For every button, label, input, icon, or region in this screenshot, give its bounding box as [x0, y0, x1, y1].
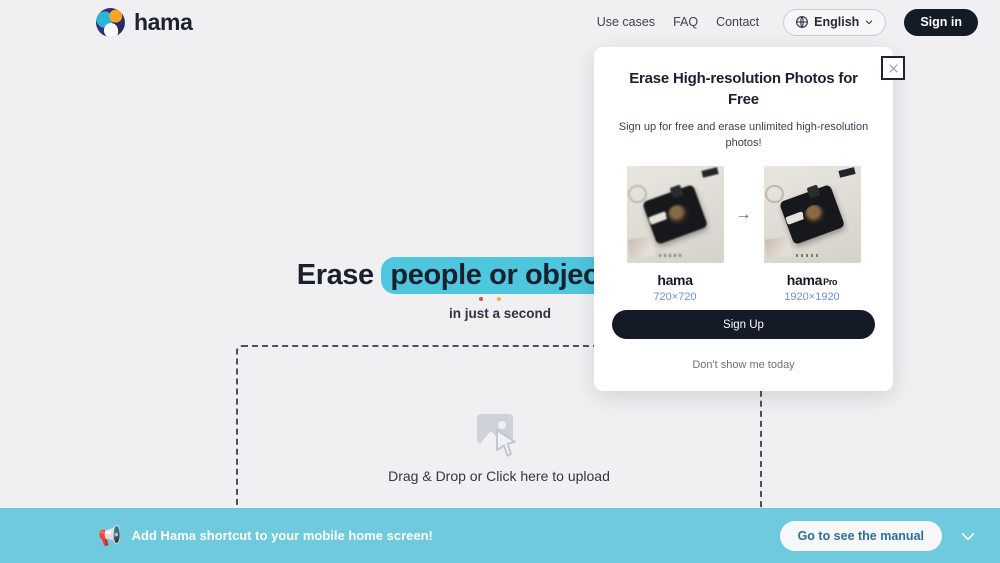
modal-title: Erase High-resolution Photos for Free	[612, 69, 875, 110]
vintage-camera-photo-hd	[764, 166, 861, 263]
hero-title-before: Erase	[297, 259, 382, 291]
accent-dot-red	[479, 297, 483, 301]
globe-icon	[795, 15, 809, 29]
arrow-right-icon: →	[734, 166, 754, 263]
plan-label-standard: hama	[657, 272, 692, 288]
cursor-arrow-icon	[495, 428, 521, 458]
nav-item-use-cases[interactable]: Use cases	[597, 15, 655, 29]
signup-modal: Erase High-resolution Photos for Free Si…	[594, 47, 893, 391]
chevron-down-icon	[864, 17, 874, 27]
main-nav: Use cases FAQ Contact English Sign in	[597, 9, 978, 36]
resolution-comparison: hama 720×720 → hama	[612, 166, 875, 303]
close-modal-button[interactable]	[881, 56, 905, 80]
plan-name-standard: hama	[627, 272, 724, 288]
chevron-down-icon	[958, 526, 978, 546]
dropzone-label: Drag & Drop or Click here to upload	[388, 468, 610, 484]
modal-subtitle: Sign up for free and erase unlimited hig…	[612, 120, 875, 152]
hero-subtitle: in just a second	[449, 306, 551, 321]
language-label: English	[814, 15, 859, 29]
sign-in-button[interactable]: Sign in	[904, 9, 978, 36]
plan-name-pro: hama Pro	[764, 272, 861, 288]
resolution-pro: 1920×1920	[764, 291, 861, 303]
hama-logo-icon	[96, 8, 125, 37]
resolution-standard: 720×720	[627, 291, 724, 303]
brand-name: hama	[134, 9, 192, 36]
nav-item-contact[interactable]: Contact	[716, 15, 759, 29]
image-upload-icon	[471, 406, 527, 462]
preview-image-pro	[764, 166, 861, 263]
plan-badge-pro: Pro	[823, 277, 837, 287]
banner-actions: Go to see the manual	[780, 521, 978, 551]
hero-subtitle-wrap: in just a second	[449, 305, 551, 323]
comparison-item-standard: hama 720×720	[627, 166, 724, 303]
vintage-camera-photo	[627, 166, 724, 263]
language-selector[interactable]: English	[783, 9, 886, 36]
go-to-manual-button[interactable]: Go to see the manual	[780, 521, 942, 551]
megaphone-icon: 📢	[98, 524, 122, 548]
site-header: hama Use cases FAQ Contact English Sign …	[0, 0, 1000, 44]
banner-message: Add Hama shortcut to your mobile home sc…	[132, 528, 433, 543]
nav-item-faq[interactable]: FAQ	[673, 15, 698, 29]
brand-logo[interactable]: hama	[96, 8, 192, 37]
close-icon	[887, 62, 900, 75]
promo-banner: 📢 Add Hama shortcut to your mobile home …	[0, 508, 1000, 563]
dismiss-today-link[interactable]: Don't show me today	[594, 359, 893, 371]
banner-collapse-button[interactable]	[958, 526, 978, 546]
plan-label-pro: hama	[787, 272, 822, 288]
comparison-item-pro: hama Pro 1920×1920	[764, 166, 861, 303]
sign-up-button[interactable]: Sign Up	[612, 310, 875, 339]
accent-dot-yellow	[497, 297, 501, 301]
preview-image-standard	[627, 166, 724, 263]
